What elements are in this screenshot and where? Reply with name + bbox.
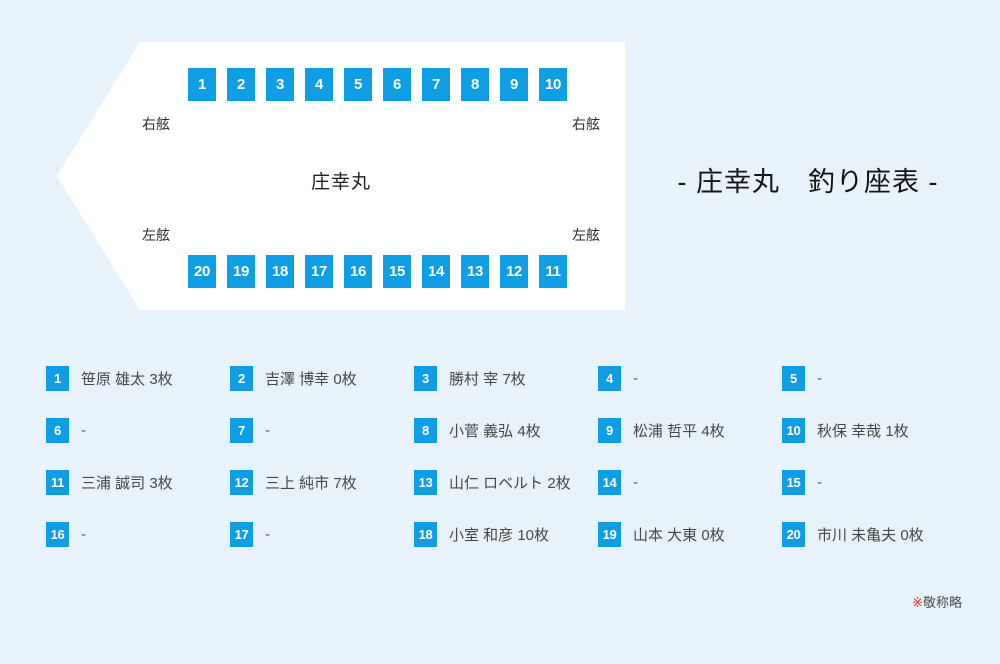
roster-entry-name: 小室 和彦 10枚	[449, 524, 549, 545]
starboard-seat-row: 12345678910	[188, 68, 567, 101]
boat-name: 庄幸丸	[0, 167, 682, 194]
roster-entry-name: -	[633, 370, 638, 387]
roster-entry: 9松浦 哲平 4枚	[598, 404, 782, 456]
roster-entry-number[interactable]: 6	[46, 418, 69, 443]
roster-entry-name: 笹原 雄太 3枚	[81, 368, 173, 389]
seat-14[interactable]: 14	[422, 255, 450, 288]
seat-2[interactable]: 2	[227, 68, 255, 101]
roster-entry-number[interactable]: 11	[46, 470, 69, 495]
roster-entry-name: 山仁 ロベルト 2枚	[449, 472, 571, 493]
roster-entry-number[interactable]: 5	[782, 366, 805, 391]
roster-entry-name: 吉澤 博幸 0枚	[265, 368, 357, 389]
roster-entry-name: 三浦 誠司 3枚	[81, 472, 173, 493]
roster-entry-name: -	[265, 422, 270, 439]
roster-entry: 5-	[782, 352, 966, 404]
roster-entry: 14-	[598, 456, 782, 508]
seat-4[interactable]: 4	[305, 68, 333, 101]
roster-entry: 17-	[230, 508, 414, 560]
footer-note: ※敬称略	[912, 592, 962, 611]
roster-entry: 3勝村 宰 7枚	[414, 352, 598, 404]
roster-entry-name: 山本 大東 0枚	[633, 524, 725, 545]
roster-entry: 12三上 純市 7枚	[230, 456, 414, 508]
seat-9[interactable]: 9	[500, 68, 528, 101]
seat-12[interactable]: 12	[500, 255, 528, 288]
roster-entry-name: 市川 未亀夫 0枚	[817, 524, 924, 545]
roster-entry-name: 秋保 幸哉 1枚	[817, 420, 909, 441]
seat-6[interactable]: 6	[383, 68, 411, 101]
boat-diagram-area: 12345678910 右舷 右舷 庄幸丸 左舷 左舷 201918171615…	[0, 0, 1000, 325]
roster-entry-number[interactable]: 4	[598, 366, 621, 391]
roster-entry-name: 三上 純市 7枚	[265, 472, 357, 493]
seat-7[interactable]: 7	[422, 68, 450, 101]
roster-entry: 7-	[230, 404, 414, 456]
roster-entry-number[interactable]: 18	[414, 522, 437, 547]
roster-entry: 4-	[598, 352, 782, 404]
seat-15[interactable]: 15	[383, 255, 411, 288]
seat-10[interactable]: 10	[539, 68, 567, 101]
roster-entry-number[interactable]: 12	[230, 470, 253, 495]
roster-entry: 2吉澤 博幸 0枚	[230, 352, 414, 404]
roster-entry-number[interactable]: 8	[414, 418, 437, 443]
roster-entry-name: -	[81, 526, 86, 543]
seat-19[interactable]: 19	[227, 255, 255, 288]
roster-entry-name: -	[633, 474, 638, 491]
reference-mark-icon: ※	[912, 595, 923, 610]
port-seat-row: 20191817161514131211	[188, 255, 567, 288]
roster-entry-number[interactable]: 19	[598, 522, 621, 547]
seat-3[interactable]: 3	[266, 68, 294, 101]
starboard-label-left: 右舷	[142, 114, 170, 134]
roster-entry: 11三浦 誠司 3枚	[46, 456, 230, 508]
seat-5[interactable]: 5	[344, 68, 372, 101]
roster-entry-number[interactable]: 13	[414, 470, 437, 495]
starboard-label-right: 右舷	[572, 114, 600, 134]
roster-entry-number[interactable]: 15	[782, 470, 805, 495]
roster-entry-name: 小菅 義弘 4枚	[449, 420, 541, 441]
roster-entry-number[interactable]: 2	[230, 366, 253, 391]
roster-entry-number[interactable]: 9	[598, 418, 621, 443]
roster-entry: 6-	[46, 404, 230, 456]
footer-note-text: 敬称略	[923, 595, 962, 610]
roster-entry-name: 勝村 宰 7枚	[449, 368, 526, 389]
seat-8[interactable]: 8	[461, 68, 489, 101]
roster-entry-number[interactable]: 10	[782, 418, 805, 443]
roster-entry: 19山本 大東 0枚	[598, 508, 782, 560]
page-title: - 庄幸丸 釣り座表 -	[648, 160, 968, 199]
seat-20[interactable]: 20	[188, 255, 216, 288]
seat-18[interactable]: 18	[266, 255, 294, 288]
seat-11[interactable]: 11	[539, 255, 567, 288]
port-label-left: 左舷	[142, 225, 170, 245]
roster-entry: 18小室 和彦 10枚	[414, 508, 598, 560]
roster-entry: 8小菅 義弘 4枚	[414, 404, 598, 456]
seat-13[interactable]: 13	[461, 255, 489, 288]
roster-entry-name: -	[817, 474, 822, 491]
roster-entry: 1笹原 雄太 3枚	[46, 352, 230, 404]
roster-entry-name: -	[265, 526, 270, 543]
roster-entry: 15-	[782, 456, 966, 508]
roster-entry-name: 松浦 哲平 4枚	[633, 420, 725, 441]
roster-entry: 10秋保 幸哉 1枚	[782, 404, 966, 456]
seat-17[interactable]: 17	[305, 255, 333, 288]
roster-entry-number[interactable]: 3	[414, 366, 437, 391]
roster-entry: 20市川 未亀夫 0枚	[782, 508, 966, 560]
roster-entry-name: -	[817, 370, 822, 387]
roster-entry-name: -	[81, 422, 86, 439]
roster-entry: 13山仁 ロベルト 2枚	[414, 456, 598, 508]
port-label-right: 左舷	[572, 225, 600, 245]
roster-grid: 1笹原 雄太 3枚2吉澤 博幸 0枚3勝村 宰 7枚4-5-6-7-8小菅 義弘…	[46, 352, 966, 560]
seat-16[interactable]: 16	[344, 255, 372, 288]
roster-entry-number[interactable]: 7	[230, 418, 253, 443]
roster-entry-number[interactable]: 1	[46, 366, 69, 391]
roster-entry-number[interactable]: 20	[782, 522, 805, 547]
roster-entry-number[interactable]: 14	[598, 470, 621, 495]
seat-1[interactable]: 1	[188, 68, 216, 101]
roster-entry-number[interactable]: 16	[46, 522, 69, 547]
roster-entry: 16-	[46, 508, 230, 560]
roster-entry-number[interactable]: 17	[230, 522, 253, 547]
